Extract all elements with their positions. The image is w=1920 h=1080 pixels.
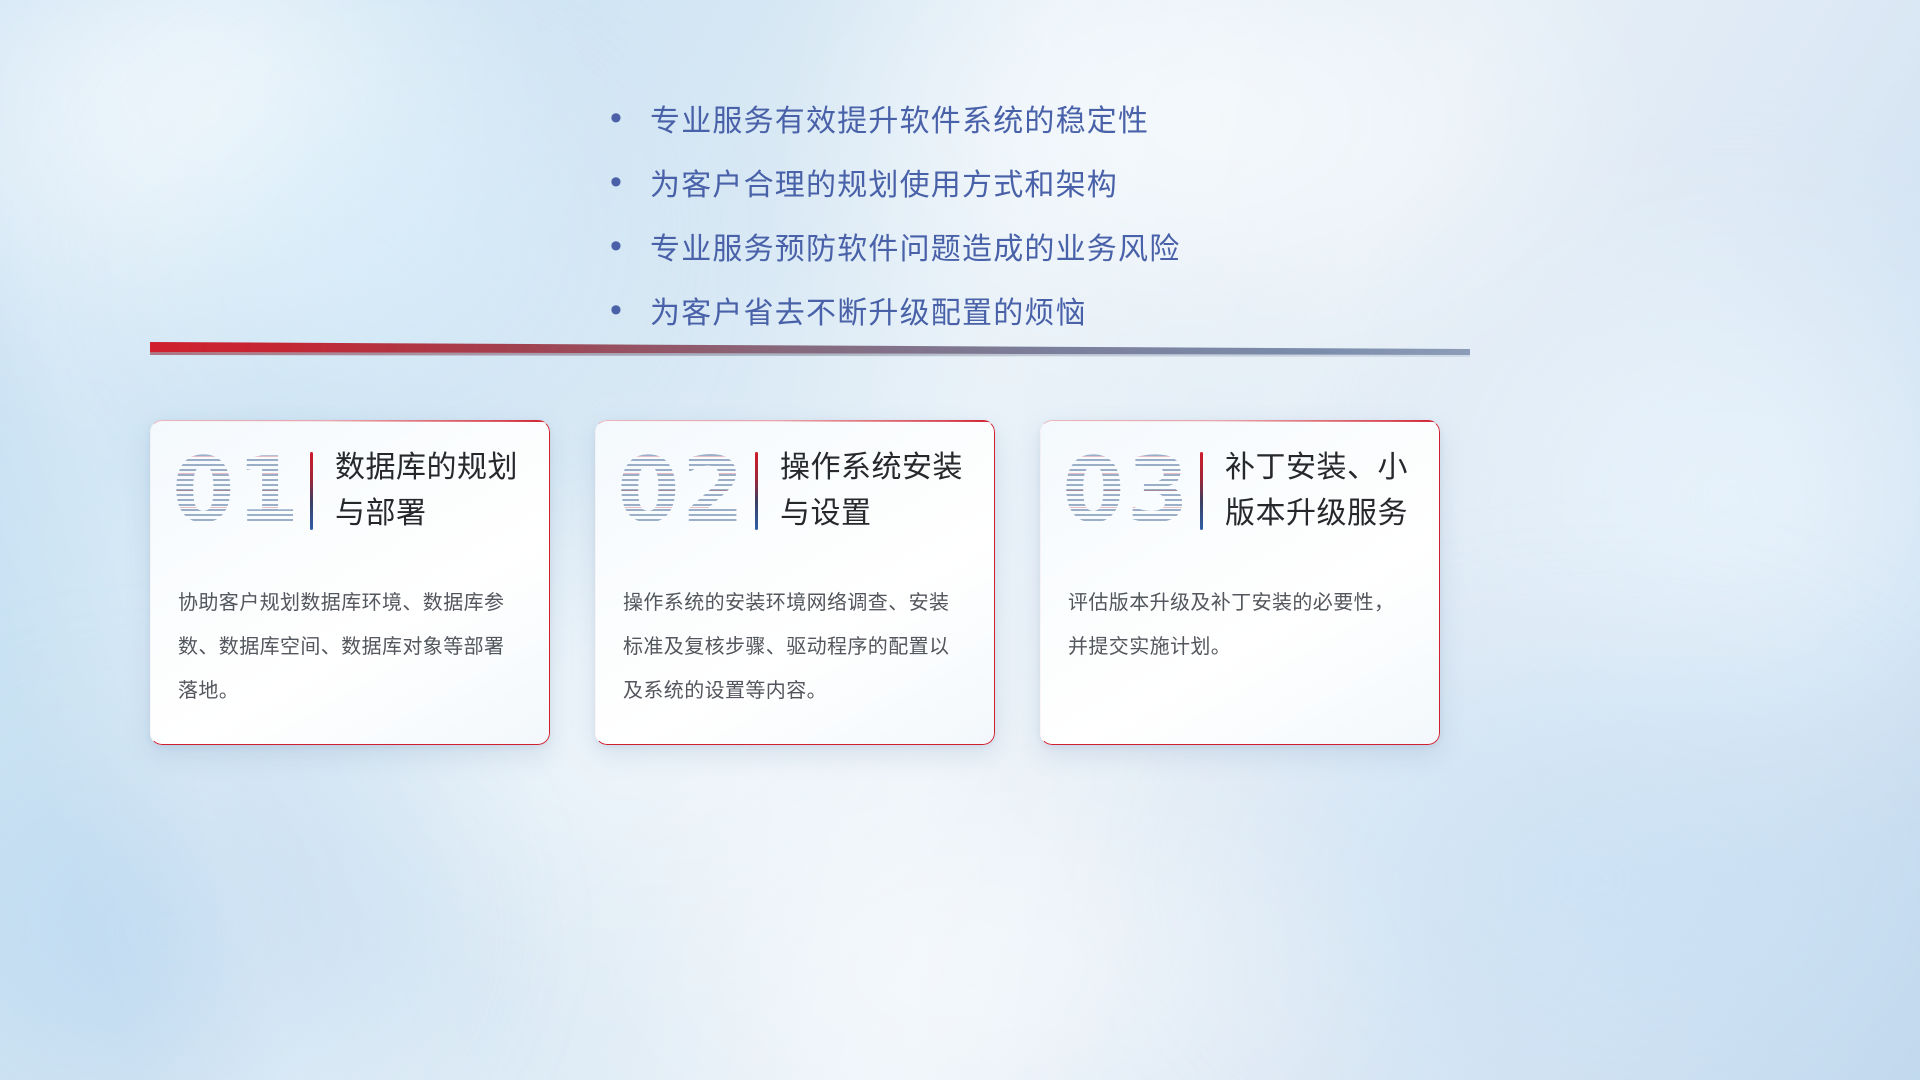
card-divider-bar bbox=[1200, 452, 1203, 530]
card-number-graphic: 03 03 bbox=[1062, 439, 1190, 543]
divider-wedge-icon bbox=[150, 340, 1470, 366]
card-body-text: 评估版本升级及补丁安装的必要性，并提交实施计划。 bbox=[1040, 562, 1440, 668]
card-body-text: 协助客户规划数据库环境、数据库参数、数据库空间、数据库对象等部署落地。 bbox=[150, 562, 550, 712]
card-number-graphic: 02 02 bbox=[617, 439, 745, 543]
service-card-03[interactable]: 03 03 补丁安装、小版本升级服务 评估版本升级及补丁安装的必要性，并提交实施… bbox=[1040, 420, 1440, 745]
card-body-text: 操作系统的安装环境网络调查、安装标准及复核步骤、驱动程序的配置以及系统的设置等内… bbox=[595, 562, 995, 712]
section-divider bbox=[150, 340, 1470, 366]
bullet-dot-icon: • bbox=[610, 150, 650, 214]
bullet-text: 为客户省去不断升级配置的烦恼 bbox=[650, 282, 1087, 346]
list-item: • 为客户省去不断升级配置的烦恼 bbox=[610, 280, 1310, 344]
bullet-list: • 专业服务有效提升软件系统的稳定性 • 为客户合理的规划使用方式和架构 • 专… bbox=[0, 88, 1920, 344]
bullet-dot-icon: • bbox=[610, 278, 650, 342]
card-header: 03 03 补丁安装、小版本升级服务 bbox=[1040, 420, 1440, 562]
list-item: • 专业服务有效提升软件系统的稳定性 bbox=[610, 88, 1310, 152]
card-title: 数据库的规划与部署 bbox=[335, 445, 524, 537]
bullet-text: 专业服务有效提升软件系统的稳定性 bbox=[650, 90, 1149, 154]
service-card-01[interactable]: 01 01 数据库的规划与部署 协助客户规划数据库环境、数据库参数、数据库空间、… bbox=[150, 420, 550, 745]
bullet-text: 为客户合理的规划使用方式和架构 bbox=[650, 154, 1118, 218]
list-item: • 为客户合理的规划使用方式和架构 bbox=[610, 152, 1310, 216]
card-title: 补丁安装、小版本升级服务 bbox=[1225, 445, 1414, 537]
card-number-accent: 03 bbox=[1062, 439, 1190, 543]
card-header: 01 01 数据库的规划与部署 bbox=[150, 420, 550, 562]
card-number-accent: 02 bbox=[617, 439, 745, 543]
card-row: 01 01 数据库的规划与部署 协助客户规划数据库环境、数据库参数、数据库空间、… bbox=[150, 420, 1770, 745]
service-card-02[interactable]: 02 02 操作系统安装与设置 操作系统的安装环境网络调查、安装标准及复核步骤、… bbox=[595, 420, 995, 745]
card-number-accent: 01 bbox=[172, 439, 300, 543]
bullet-dot-icon: • bbox=[610, 214, 650, 278]
card-divider-bar bbox=[310, 452, 313, 530]
list-item: • 专业服务预防软件问题造成的业务风险 bbox=[610, 216, 1310, 280]
bullet-dot-icon: • bbox=[610, 86, 650, 150]
card-number-graphic: 01 01 bbox=[172, 439, 300, 543]
card-title: 操作系统安装与设置 bbox=[780, 445, 969, 537]
bullet-text: 专业服务预防软件问题造成的业务风险 bbox=[650, 218, 1180, 282]
card-header: 02 02 操作系统安装与设置 bbox=[595, 420, 995, 562]
card-divider-bar bbox=[755, 452, 758, 530]
